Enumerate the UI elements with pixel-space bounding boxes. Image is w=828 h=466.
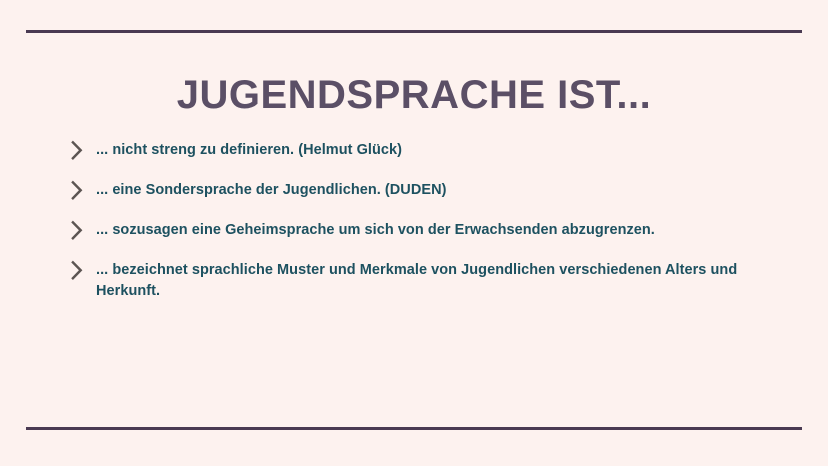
list-item: ... sozusagen eine Geheimsprache um sich… — [66, 219, 766, 242]
bottom-divider-rule — [26, 427, 802, 430]
list-item-label: ... eine Sondersprache der Jugendlichen.… — [96, 179, 766, 201]
list-item-label: ... bezeichnet sprachliche Muster und Me… — [96, 259, 766, 302]
list-item: ... eine Sondersprache der Jugendlichen.… — [66, 179, 766, 202]
chevron-right-icon — [66, 219, 88, 242]
list-item: ... nicht streng zu definieren. (Helmut … — [66, 139, 766, 162]
top-divider-rule — [26, 30, 802, 33]
list-item: ... bezeichnet sprachliche Muster und Me… — [66, 259, 766, 302]
page-title: JUGENDSPRACHE IST... — [0, 72, 828, 118]
chevron-right-icon — [66, 139, 88, 162]
chevron-right-icon — [66, 259, 88, 282]
presentation-slide: JUGENDSPRACHE IST... ... nicht streng zu… — [0, 0, 828, 466]
list-item-label: ... nicht streng zu definieren. (Helmut … — [96, 139, 766, 161]
list-item-label: ... sozusagen eine Geheimsprache um sich… — [96, 219, 766, 241]
bullet-list: ... nicht streng zu definieren. (Helmut … — [66, 139, 766, 302]
chevron-right-icon — [66, 179, 88, 202]
